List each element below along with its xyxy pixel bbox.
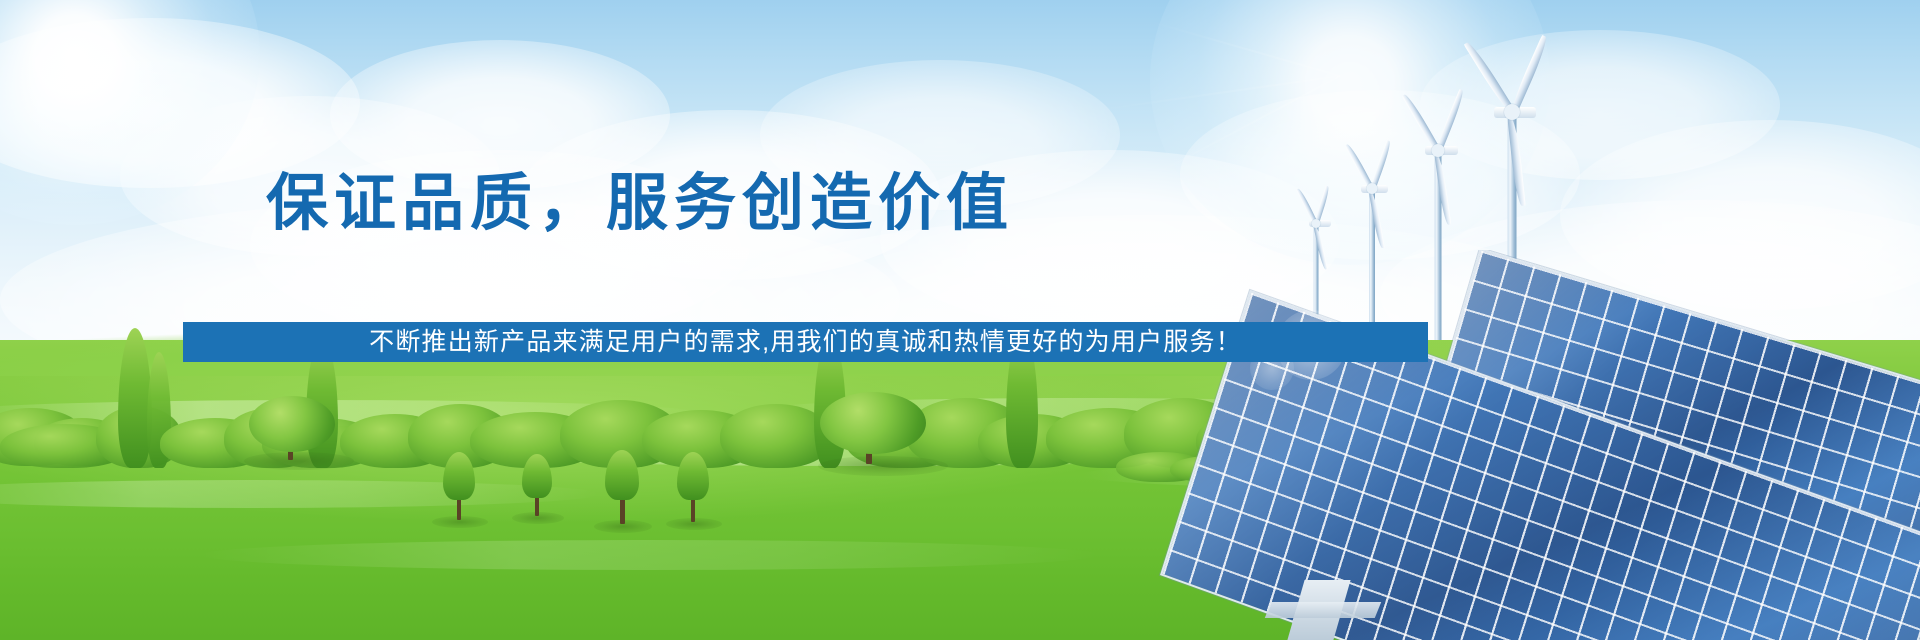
page-title: 保证品质，服务创造价值 xyxy=(0,168,1920,240)
tree-shadow xyxy=(244,452,354,470)
subtitle-text: 不断推出新产品来满足用户的需求,用我们的真诚和热情更好的为用户服务！ xyxy=(369,322,1242,362)
tree-icon xyxy=(249,396,335,452)
solar-panel-icon xyxy=(1150,250,1920,640)
tree-icon xyxy=(820,392,926,454)
solar-panel-frame xyxy=(1265,602,1381,618)
tree-icon xyxy=(118,328,152,468)
subtitle-bar: 不断推出新产品来满足用户的需求,用我们的真诚和热情更好的为用户服务！ xyxy=(183,322,1428,362)
hero-banner: 保证品质，服务创造价值 不断推出新产品来满足用户的需求,用我们的真诚和热情更好的… xyxy=(0,0,1920,640)
tree-shadow xyxy=(818,456,948,476)
